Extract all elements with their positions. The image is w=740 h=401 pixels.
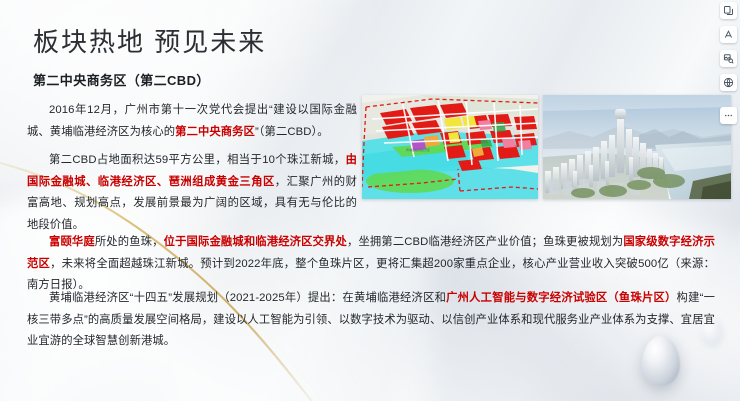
translate-icon[interactable] bbox=[720, 74, 737, 91]
slide-canvas: 板块热地 预见未来 第二中央商务区（第二CBD） 2016年12月，广州市第十一… bbox=[0, 0, 740, 401]
svg-text:黄埔区临港经济区: 黄埔区临港经济区 bbox=[406, 147, 430, 152]
highlighted-text-run: 富颐华庭 bbox=[49, 236, 95, 248]
text-run: ”（第二CBD）。 bbox=[255, 126, 329, 138]
highlighted-text-run: 位于国际金融城和临港经济区交界处 bbox=[164, 236, 347, 248]
copy-icon[interactable] bbox=[720, 2, 737, 19]
text-run: 第二CBD占地面积达59平方公里，相当于10个珠江新城， bbox=[49, 154, 346, 166]
paragraph-2: 第二CBD占地面积达59平方公里，相当于10个珠江新城，由国际金融城、临港经济区… bbox=[27, 150, 357, 237]
zoning-plan-map: 黄埔区临港经济区 bbox=[362, 95, 538, 199]
city-skyline-graphic bbox=[543, 95, 731, 199]
floating-toolbar[interactable] bbox=[718, 2, 738, 124]
image-search-icon[interactable] bbox=[720, 50, 737, 67]
highlighted-text-run: 第二中央商务区 bbox=[175, 126, 255, 138]
text-select-icon[interactable] bbox=[720, 26, 737, 43]
city-skyline-rendering bbox=[543, 95, 731, 199]
more-icon[interactable] bbox=[720, 107, 737, 124]
highlighted-text-run: 广州人工智能与数字经济试验区（鱼珠片区） bbox=[446, 292, 676, 304]
text-run: ，坐拥第二CBD临港经济区产业价值；鱼珠更被规划为 bbox=[347, 236, 623, 248]
paragraph-1: 2016年12月，广州市第十一次党代会提出“建设以国际金融城、黄埔临港经济区为核… bbox=[27, 100, 357, 143]
text-run: ，未来将全面超越珠江新城。预计到2022年底，整个鱼珠片区，更将汇集超200家重… bbox=[27, 258, 715, 292]
section-subtitle: 第二中央商务区（第二CBD） bbox=[33, 70, 210, 89]
page-title: 板块热地 预见未来 bbox=[33, 22, 266, 59]
zoning-plan-map-graphic: 黄埔区临港经济区 bbox=[362, 95, 538, 199]
text-run: 黄埔临港经济区“十四五”发展规划（2021-2025年）提出：在黄埔临港经济区和 bbox=[49, 292, 446, 304]
paragraph-4: 黄埔临港经济区“十四五”发展规划（2021-2025年）提出：在黄埔临港经济区和… bbox=[27, 288, 715, 353]
text-run: 所处的鱼珠， bbox=[95, 236, 164, 248]
